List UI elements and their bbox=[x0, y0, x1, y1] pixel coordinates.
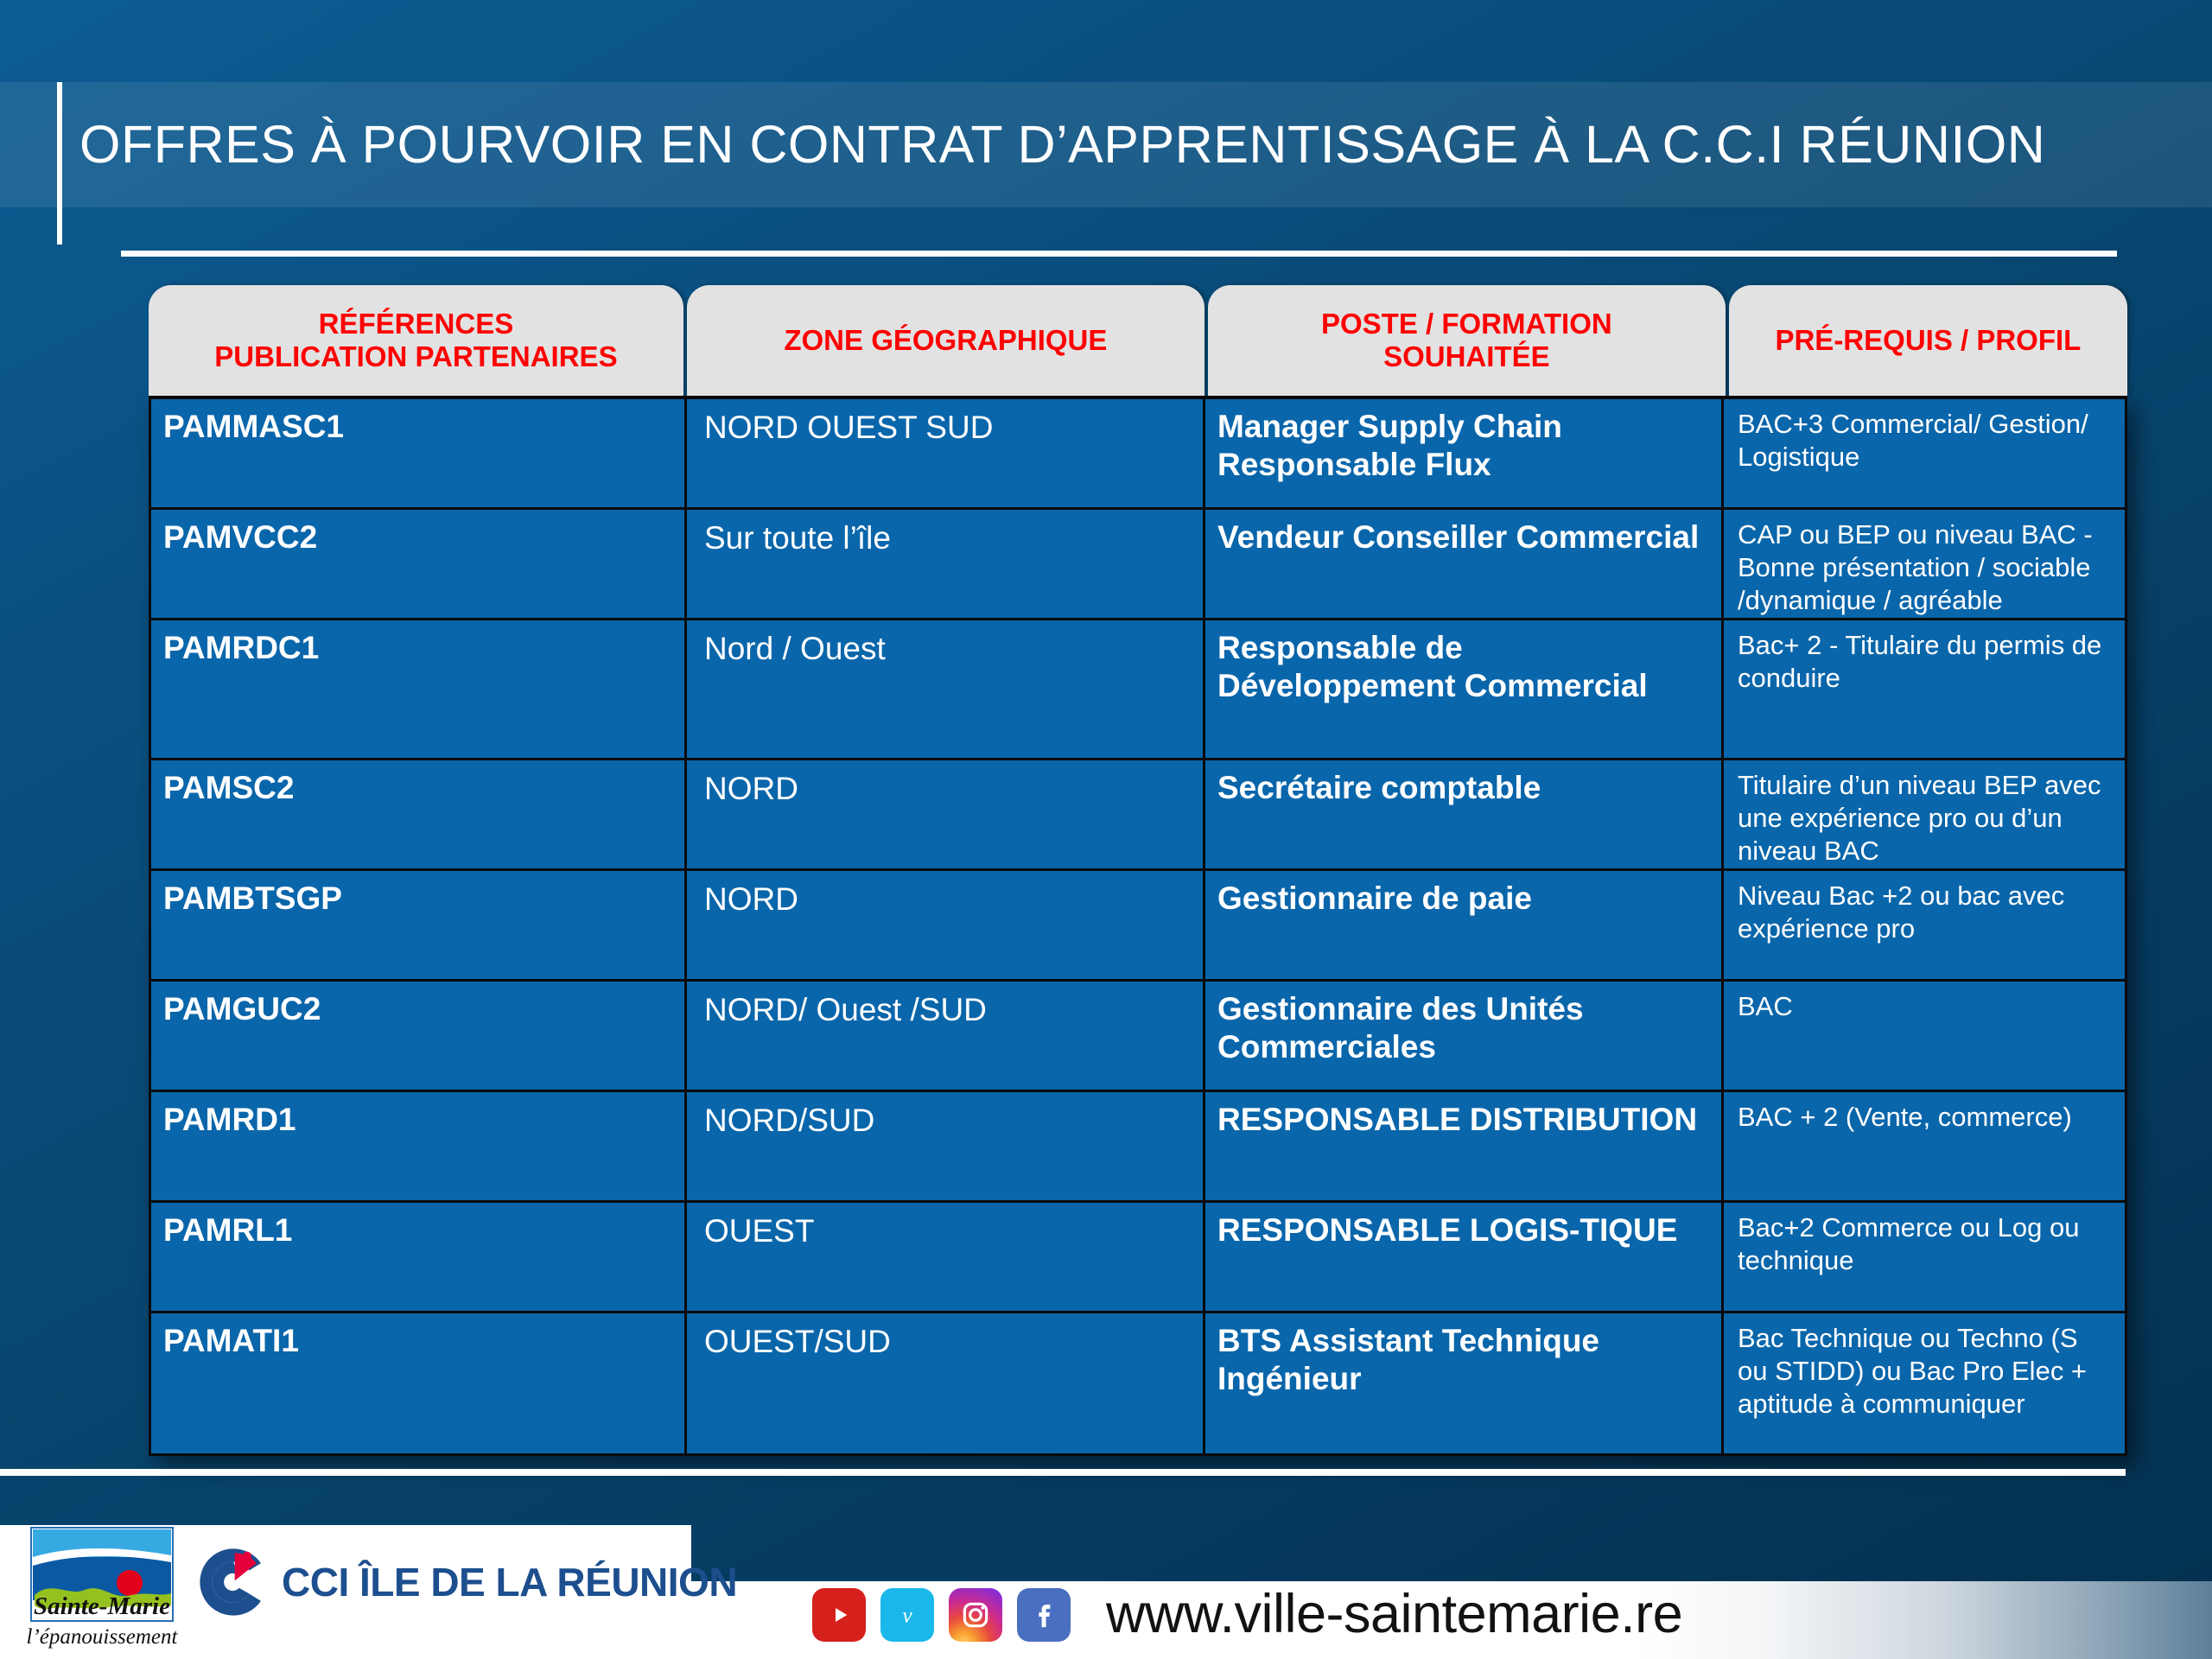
table-row: PAMVCC2 Sur toute l’île Vendeur Conseill… bbox=[151, 510, 2125, 620]
column-header-zone-label: ZONE GÉOGRAPHIQUE bbox=[784, 324, 1107, 357]
cell-poste: RESPONSABLE LOGIS-TIQUE bbox=[1205, 1203, 1724, 1311]
page-title: OFFRES À POURVOIR EN CONTRAT D’APPRENTIS… bbox=[79, 82, 2045, 207]
cell-poste: RESPONSABLE DISTRIBUTION bbox=[1205, 1092, 1724, 1200]
cell-zone: NORD bbox=[687, 871, 1205, 979]
cell-reference: PAMVCC2 bbox=[151, 510, 687, 618]
cci-logo-text: CCI ÎLE DE LA RÉUNION bbox=[282, 1559, 737, 1605]
column-header-poste-line1: POSTE / FORMATION bbox=[1321, 308, 1612, 340]
cell-prerequis: BAC+3 Commercial/ Gestion/ Logistique bbox=[1724, 399, 2123, 507]
sainte-marie-logo: Sainte-Marie l’épanouissement bbox=[19, 1526, 185, 1654]
cell-zone: Sur toute l’île bbox=[687, 510, 1205, 618]
offers-table: RÉFÉRENCES PUBLICATION PARTENAIRES ZONE … bbox=[149, 285, 2127, 1456]
cell-zone: OUEST bbox=[687, 1203, 1205, 1311]
column-header-references-line1: RÉFÉRENCES bbox=[214, 308, 617, 340]
website-url[interactable]: www.ville-saintemarie.re bbox=[1106, 1583, 1682, 1645]
cell-poste: Secrétaire comptable bbox=[1205, 760, 1724, 868]
cell-zone: NORD/SUD bbox=[687, 1092, 1205, 1200]
cell-prerequis: Bac Technique ou Techno (S ou STIDD) ou … bbox=[1724, 1313, 2123, 1453]
column-header-poste-line2: SOUHAITÉE bbox=[1321, 340, 1612, 373]
cell-zone: OUEST/SUD bbox=[687, 1313, 1205, 1453]
svg-text:l’épanouissement: l’épanouissement bbox=[27, 1625, 179, 1649]
column-header-references: RÉFÉRENCES PUBLICATION PARTENAIRES bbox=[149, 285, 683, 396]
column-header-references-line2: PUBLICATION PARTENAIRES bbox=[214, 340, 617, 373]
cell-reference: PAMMASC1 bbox=[151, 399, 687, 507]
cell-reference: PAMRL1 bbox=[151, 1203, 687, 1311]
table-row: PAMRD1 NORD/SUD RESPONSABLE DISTRIBUTION… bbox=[151, 1092, 2125, 1203]
cell-zone: Nord / Ouest bbox=[687, 620, 1205, 758]
cell-zone: NORD OUEST SUD bbox=[687, 399, 1205, 507]
table-row: PAMSC2 NORD Secrétaire comptable Titulai… bbox=[151, 760, 2125, 871]
table-row: PAMGUC2 NORD/ Ouest /SUD Gestionnaire de… bbox=[151, 982, 2125, 1092]
title-accent-bar bbox=[57, 82, 62, 245]
column-header-poste: POSTE / FORMATION SOUHAITÉE bbox=[1208, 285, 1726, 396]
cell-prerequis: BAC + 2 (Vente, commerce) bbox=[1724, 1092, 2123, 1200]
facebook-icon[interactable] bbox=[1017, 1588, 1071, 1642]
table-row: PAMATI1 OUEST/SUD BTS Assistant Techniqu… bbox=[151, 1313, 2125, 1453]
table-row: PAMBTSGP NORD Gestionnaire de paie Nivea… bbox=[151, 871, 2125, 982]
youtube-icon[interactable] bbox=[812, 1588, 866, 1642]
divider-top bbox=[121, 251, 2117, 257]
column-header-prerequis-label: PRÉ-REQUIS / PROFIL bbox=[1775, 324, 2081, 357]
cell-poste: Gestionnaire des Unités Commerciales bbox=[1205, 982, 1724, 1090]
vimeo-icon[interactable]: v bbox=[880, 1588, 934, 1642]
cell-zone: NORD bbox=[687, 760, 1205, 868]
table-row: PAMMASC1 NORD OUEST SUD Manager Supply C… bbox=[151, 399, 2125, 510]
cell-poste: Gestionnaire de paie bbox=[1205, 871, 1724, 979]
cell-poste: Vendeur Conseiller Commercial bbox=[1205, 510, 1724, 618]
cell-prerequis: Titulaire d’un niveau BEP avec une expér… bbox=[1724, 760, 2123, 868]
cci-logo-mark bbox=[197, 1546, 270, 1618]
cell-prerequis: Niveau Bac +2 ou bac avec expérience pro bbox=[1724, 871, 2123, 979]
divider-bottom bbox=[0, 1469, 2126, 1476]
cell-prerequis: Bac+2 Commerce ou Log ou technique bbox=[1724, 1203, 2123, 1311]
cell-zone: NORD/ Ouest /SUD bbox=[687, 982, 1205, 1090]
cell-poste: Manager Supply Chain Responsable Flux bbox=[1205, 399, 1724, 507]
cell-prerequis: BAC bbox=[1724, 982, 2123, 1090]
cell-reference: PAMRD1 bbox=[151, 1092, 687, 1200]
cell-prerequis: CAP ou BEP ou niveau BAC - Bonne présent… bbox=[1724, 510, 2123, 618]
table-body: PAMMASC1 NORD OUEST SUD Manager Supply C… bbox=[149, 396, 2127, 1456]
instagram-icon[interactable] bbox=[949, 1588, 1002, 1642]
column-header-prerequis: PRÉ-REQUIS / PROFIL bbox=[1729, 285, 2127, 396]
social-links: v bbox=[812, 1588, 1071, 1642]
table-header-row: RÉFÉRENCES PUBLICATION PARTENAIRES ZONE … bbox=[149, 285, 2127, 396]
cell-reference: PAMATI1 bbox=[151, 1313, 687, 1453]
cell-reference: PAMBTSGP bbox=[151, 871, 687, 979]
svg-text:Sainte-Marie: Sainte-Marie bbox=[34, 1592, 170, 1620]
column-header-zone: ZONE GÉOGRAPHIQUE bbox=[687, 285, 1205, 396]
cell-reference: PAMSC2 bbox=[151, 760, 687, 868]
cell-prerequis: Bac+ 2 - Titulaire du permis de conduire bbox=[1724, 620, 2123, 758]
cell-reference: PAMGUC2 bbox=[151, 982, 687, 1090]
svg-text:v: v bbox=[902, 1603, 912, 1628]
table-row: PAMRDC1 Nord / Ouest Responsable de Déve… bbox=[151, 620, 2125, 760]
table-row: PAMRL1 OUEST RESPONSABLE LOGIS-TIQUE Bac… bbox=[151, 1203, 2125, 1313]
cci-logo: CCI ÎLE DE LA RÉUNION bbox=[197, 1548, 737, 1616]
cell-poste: Responsable de Développement Commercial bbox=[1205, 620, 1724, 758]
cell-reference: PAMRDC1 bbox=[151, 620, 687, 758]
cell-poste: BTS Assistant Technique Ingénieur bbox=[1205, 1313, 1724, 1453]
